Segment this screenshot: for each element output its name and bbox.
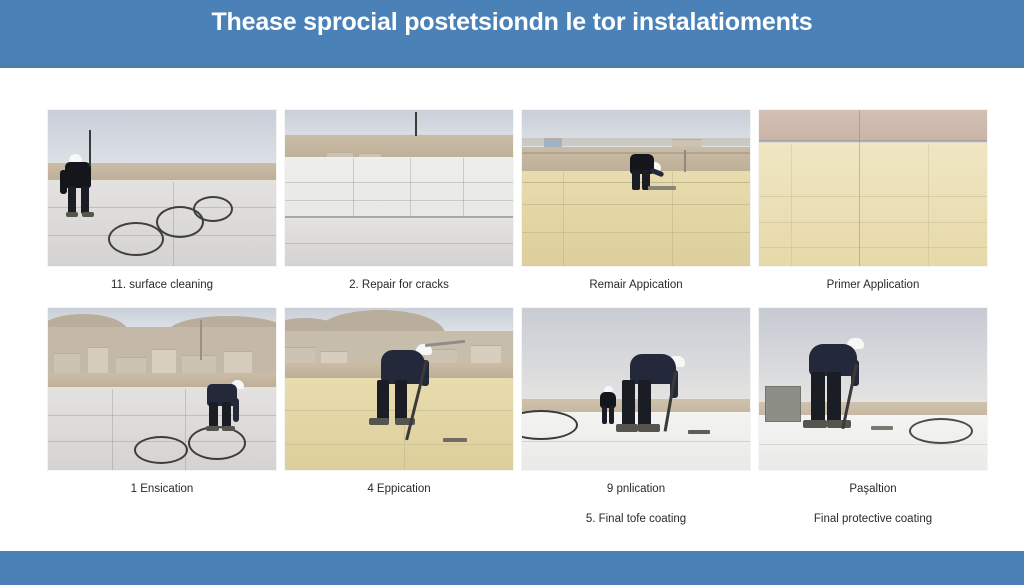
slide-page: Thease sprocial postetsiondn le tor inst…: [0, 0, 1024, 585]
gallery-item-4-caption: Primer Application: [759, 278, 987, 292]
photo-gallery-grid: 11. surface cleaning 2. Repair for cra: [48, 110, 978, 540]
photo-remair-application: [522, 110, 750, 266]
photo-eppication: [285, 308, 513, 470]
header-band-edge: [0, 64, 1024, 68]
gallery-item-8[interactable]: Paşaltion Final protective coating: [759, 308, 987, 526]
gallery-item-5[interactable]: 1 Ensication: [48, 308, 276, 496]
photo-final-tofe-coating: [522, 308, 750, 470]
page-title: Thease sprocial postetsiondn le tor inst…: [0, 0, 1024, 56]
gallery-item-7[interactable]: 9 pnlication 5. Final tofe coating: [522, 308, 750, 526]
ac-unit: [765, 386, 801, 422]
gallery-item-2-caption: 2. Repair for cracks: [285, 278, 513, 292]
photo-primer-application: [759, 110, 987, 266]
gallery-item-1-caption: 11. surface cleaning: [48, 278, 276, 292]
gallery-item-7-caption: 9 pnlication: [522, 482, 750, 496]
gallery-item-3-caption: Remair Appication: [522, 278, 750, 292]
gallery-item-6-caption: 4 Eppication: [285, 482, 513, 496]
photo-ensication: [48, 308, 276, 470]
footer-band: [0, 551, 1024, 585]
gallery-item-2[interactable]: 2. Repair for cracks: [285, 110, 513, 292]
gallery-item-4[interactable]: Primer Application: [759, 110, 987, 292]
gallery-item-8-caption: Paşaltion: [759, 482, 987, 496]
photo-repair-for-cracks: [285, 110, 513, 266]
gallery-item-8-caption-secondary: Final protective coating: [759, 512, 987, 526]
photo-final-protective-coating: [759, 308, 987, 470]
gallery-item-3[interactable]: Remair Appication: [522, 110, 750, 292]
gallery-item-7-caption-secondary: 5. Final tofe coating: [522, 512, 750, 526]
photo-surface-cleaning: [48, 110, 276, 266]
gallery-item-6[interactable]: 4 Eppication: [285, 308, 513, 496]
gallery-item-1[interactable]: 11. surface cleaning: [48, 110, 276, 292]
gallery-item-5-caption: 1 Ensication: [48, 482, 276, 496]
